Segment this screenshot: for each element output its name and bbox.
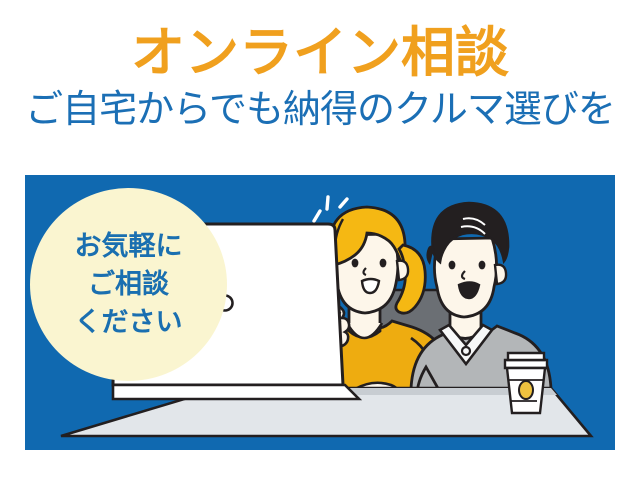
badge-line-3: ください: [75, 304, 183, 342]
illustration-panel: お気軽に ご相談 ください: [25, 175, 615, 450]
badge-line-2: ご相談: [88, 266, 169, 304]
page-subtitle: ご自宅からでも納得のクルマ選びを: [0, 86, 640, 132]
coffee-cup: [505, 353, 547, 413]
consultation-badge: お気軽に ご相談 ください: [30, 188, 227, 381]
online-consultation-banner: オンライン相談 ご自宅からでも納得のクルマ選びを: [0, 0, 640, 480]
page-title: オンライン相談: [0, 22, 640, 84]
badge-line-1: お気軽に: [75, 228, 183, 266]
headline-area: オンライン相談 ご自宅からでも納得のクルマ選びを: [0, 22, 640, 132]
